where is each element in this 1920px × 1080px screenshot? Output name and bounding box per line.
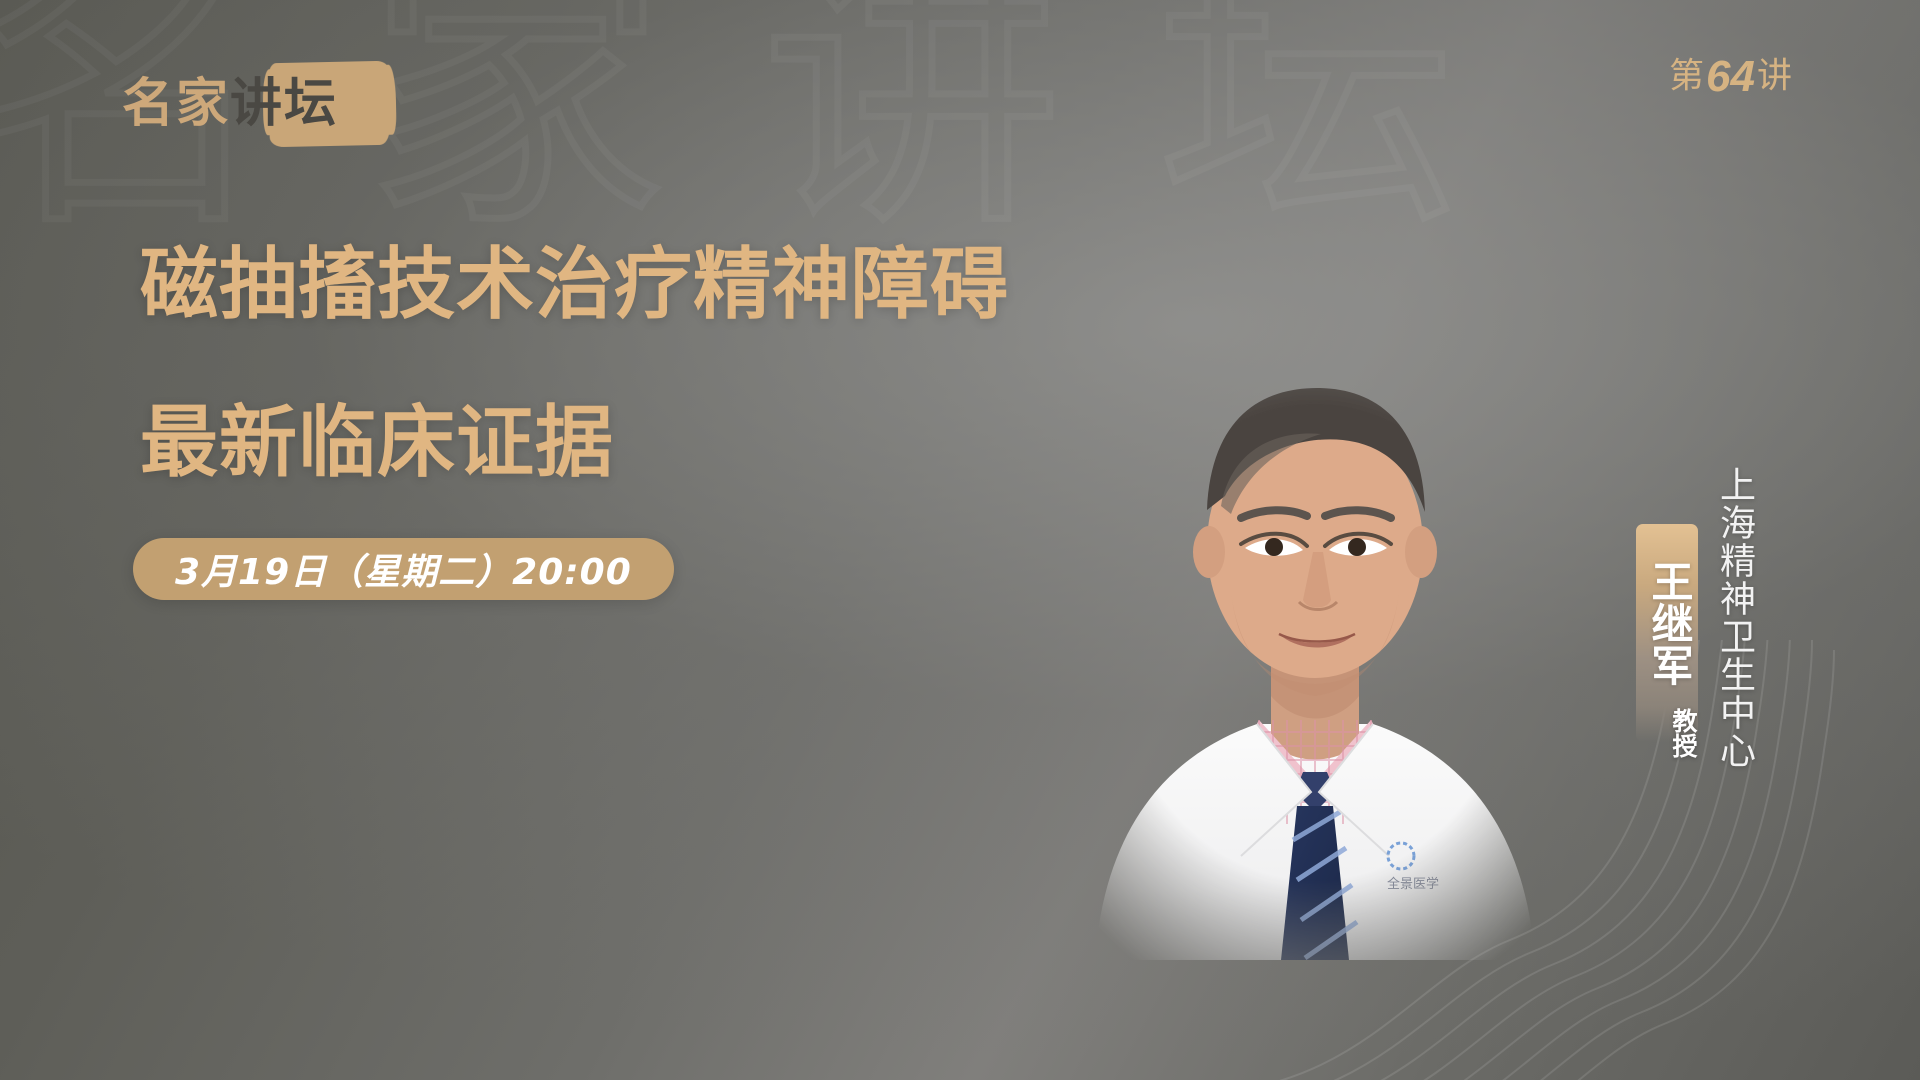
speaker-name: 王继军 <box>1636 530 1698 716</box>
brand-logo: 名家讲坛 <box>122 48 422 158</box>
watermark-glyph-3: 讲 <box>762 0 1062 242</box>
logo-text: 名家讲坛 <box>122 62 338 146</box>
speaker-organization: 上海精神卫生中心 <box>1712 466 1756 806</box>
headline-line-2: 最新临床证据 <box>140 404 1009 482</box>
speaker-portrait: 全景医学 <box>1035 300 1595 960</box>
logo-text-knockout: 讲坛 <box>230 74 338 134</box>
speaker-title: 教授 <box>1636 700 1698 766</box>
watermark-glyph-4: 坛 <box>1158 0 1458 242</box>
logo-text-plain: 名家 <box>122 74 230 134</box>
episode-suffix: 讲 <box>1757 57 1792 97</box>
webinar-poster: 名 家 讲 坛 名家讲坛 第64讲 磁抽搐技术治疗精神障碍 最新临床证据 <box>0 0 1920 1080</box>
episode-number: 第64讲 <box>1669 55 1792 99</box>
schedule-badge: 3月19日（星期二）20:00 <box>133 538 674 600</box>
schedule-text: 3月19日（星期二）20:00 <box>175 543 632 595</box>
page-title: 磁抽搐技术治疗精神障碍 最新临床证据 <box>140 246 1009 482</box>
headline-line-1: 磁抽搐技术治疗精神障碍 <box>140 246 1009 324</box>
episode-count: 64 <box>1704 52 1757 101</box>
svg-text:全景医学: 全景医学 <box>1387 876 1439 892</box>
episode-prefix: 第 <box>1669 57 1704 97</box>
